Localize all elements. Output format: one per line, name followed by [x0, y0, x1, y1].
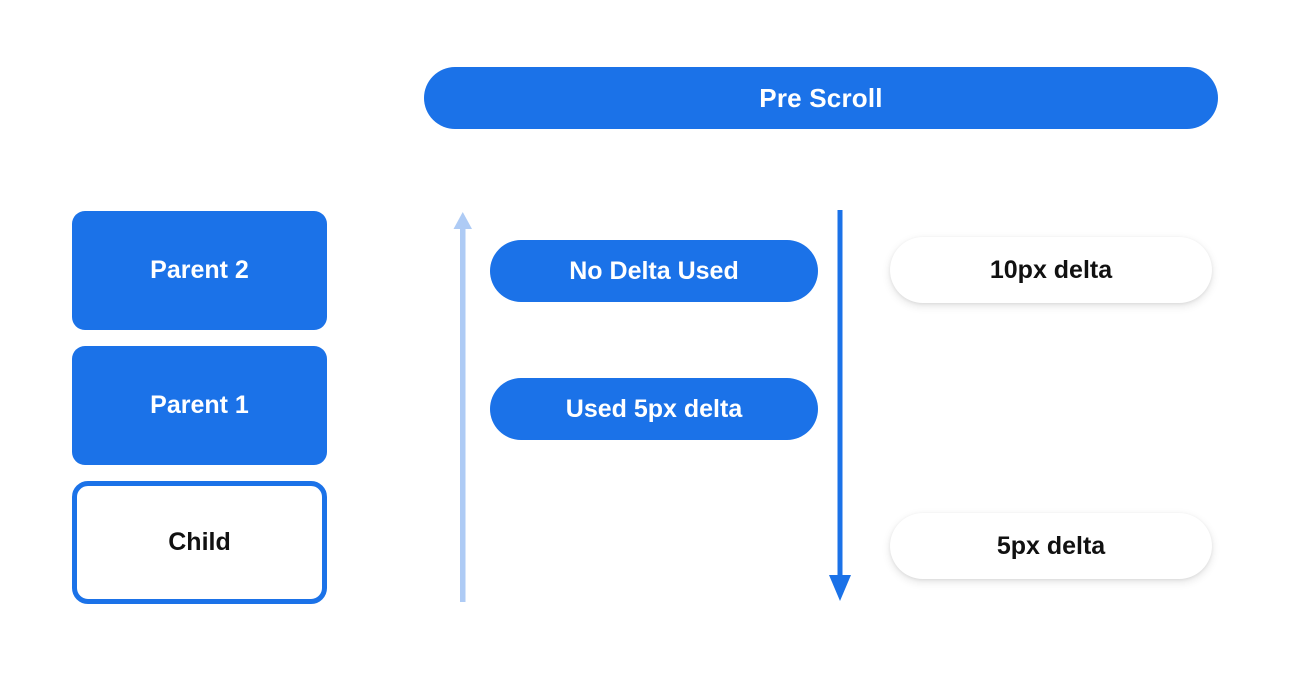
pre-scroll-header-label: Pre Scroll	[759, 83, 882, 114]
card-child-label: Child	[168, 528, 231, 557]
center-pill-no-delta-used: No Delta Used	[490, 240, 818, 302]
diagram-canvas: Pre Scroll Parent 2 Parent 1 Child No De…	[0, 0, 1312, 680]
card-parent-2-label: Parent 2	[150, 256, 249, 285]
center-pill-used-5px-delta-label: Used 5px delta	[566, 395, 742, 424]
card-parent-2: Parent 2	[72, 211, 327, 330]
arrow-up-icon	[452, 210, 474, 607]
center-pill-used-5px-delta: Used 5px delta	[490, 378, 818, 440]
right-pill-5px-delta-label: 5px delta	[997, 532, 1105, 561]
view-hierarchy-column: Parent 2 Parent 1 Child	[72, 211, 327, 604]
center-pill-no-delta-used-label: No Delta Used	[569, 257, 738, 286]
card-parent-1-label: Parent 1	[150, 391, 249, 420]
right-pill-10px-delta: 10px delta	[890, 237, 1212, 303]
right-pill-5px-delta: 5px delta	[890, 513, 1212, 579]
arrow-down-icon	[827, 210, 853, 607]
card-child: Child	[72, 481, 327, 604]
pre-scroll-header-pill: Pre Scroll	[424, 67, 1218, 129]
card-parent-1: Parent 1	[72, 346, 327, 465]
right-pill-10px-delta-label: 10px delta	[990, 256, 1112, 285]
